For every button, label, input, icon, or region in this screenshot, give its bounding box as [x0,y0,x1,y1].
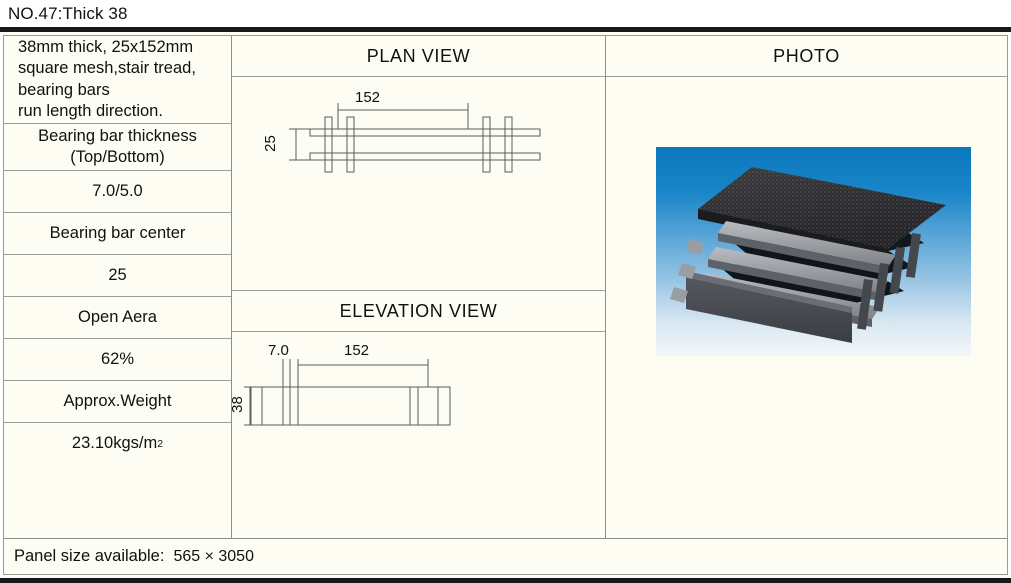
spec-open-area-label: Open Aera [4,297,231,339]
photo-header: PHOTO [606,36,1007,77]
spec-open-area-value: 62% [4,339,231,381]
spec-approx-weight-value: 23.10kgs/m2 [4,423,231,465]
plan-dim-height-label: 25 [262,135,279,152]
plan-view-header: PLAN VIEW [232,36,605,77]
bottom-rule [0,578,1011,583]
grating-render-svg [656,147,971,356]
spec-description: 38mm thick, 25x152mm square mesh,stair t… [4,36,231,124]
panel-size-row: Panel size available: 565 × 3050 [4,538,1007,574]
panel-size-value: 565 × 3050 [173,548,254,566]
elevation-dim-bar-label: 7.0 [268,342,289,359]
drawing-column: PLAN VIEW [232,36,606,538]
datasheet-table: 38mm thick, 25x152mm square mesh,stair t… [3,35,1008,575]
spec-bearing-bar-thickness-label: Bearing bar thickness (Top/Bottom) [4,124,231,171]
spec-approx-weight-number: 23.10kgs/m [72,433,157,454]
elevation-view-header: ELEVATION VIEW [232,291,605,332]
spec-bearing-bar-center-label: Bearing bar center [4,213,231,255]
page-title: NO.47:Thick 38 [8,4,128,24]
elevation-view-svg [232,332,606,538]
panel-size-label: Panel size available: [14,547,164,566]
elevation-dim-thickness-label: 38 [229,396,246,413]
photo-body [606,77,1007,538]
plan-view-svg [232,77,606,290]
specification-column: 38mm thick, 25x152mm square mesh,stair t… [4,36,232,538]
plan-view-drawing: 152 25 [232,77,605,291]
product-photo [656,147,971,356]
spec-approx-weight-label: Approx.Weight [4,381,231,423]
plan-dim-width-label: 152 [355,89,380,106]
datasheet-main-row: 38mm thick, 25x152mm square mesh,stair t… [4,36,1007,538]
spec-bearing-bar-center-value: 25 [4,255,231,297]
elevation-dim-pitch-label: 152 [344,342,369,359]
spec-bearing-bar-thickness-value: 7.0/5.0 [4,171,231,213]
photo-column: PHOTO [606,36,1007,538]
sheet-title-bar: NO.47:Thick 38 [0,0,1011,27]
elevation-view-drawing: 7.0 152 38 [232,332,605,538]
